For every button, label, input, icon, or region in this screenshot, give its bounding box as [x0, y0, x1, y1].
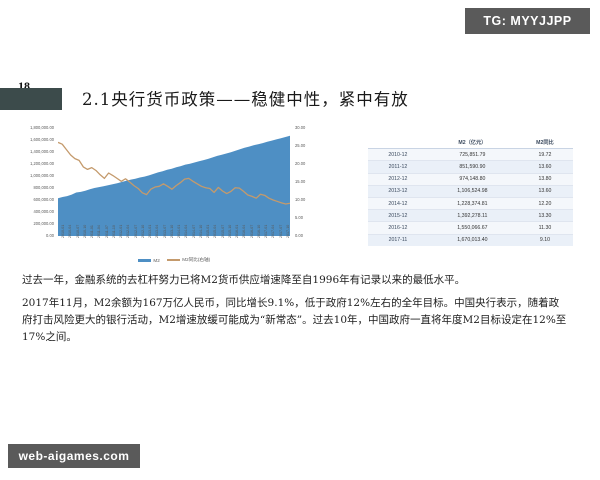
y-tick-left: 200,000.00 [6, 222, 54, 226]
chart-y-axis-right: 30.0025.0020.0015.0010.005.000.00 [292, 124, 332, 240]
table-row: 2015-121,392,278.1113.30 [368, 210, 573, 222]
table-header-m2: M2（亿元） [428, 136, 517, 149]
x-tick: 2017-07 [279, 225, 283, 238]
x-tick: 2016-10 [257, 225, 261, 238]
m2-data-table: M2（亿元） M2同比 2010-12725,851.7919.722011-1… [368, 136, 573, 246]
table-row: 2012-12974,148.8013.80 [368, 173, 573, 185]
cell-date: 2015-12 [368, 210, 428, 222]
y-tick-left: 1,800,000.00 [6, 126, 54, 130]
x-tick: 2015-01 [206, 225, 210, 238]
cell-m2-yoy: 11.30 [517, 222, 573, 234]
table-header-m2-yoy: M2同比 [517, 136, 573, 149]
y-tick-left: 1,400,000.00 [6, 150, 54, 154]
cell-m2: 851,590.90 [428, 161, 517, 173]
x-tick: 2012-01 [119, 225, 123, 238]
x-tick: 2013-07 [163, 225, 167, 238]
table-header-date [368, 136, 428, 149]
paragraph-2: 2017年11月，M2余额为167万亿人民币，同比增长9.1%，低于政府12%左… [22, 295, 567, 346]
x-tick: 2014-07 [192, 225, 196, 238]
cell-date: 2014-12 [368, 197, 428, 209]
x-tick: 2013-10 [170, 225, 174, 238]
cell-date: 2016-12 [368, 222, 428, 234]
x-tick: 2014-01 [177, 225, 181, 238]
legend-label-m2-yoy: M2同比(右轴) [182, 257, 210, 263]
cell-m2-yoy: 13.60 [517, 161, 573, 173]
cell-date: 2010-12 [368, 149, 428, 161]
y-tick-left: 400,000.00 [6, 210, 54, 214]
table-row: 2014-121,228,374.8112.20 [368, 197, 573, 209]
x-tick: 2017-01 [264, 225, 268, 238]
page-title: 2.1央行货币政策——稳健中性，紧中有放 [82, 86, 409, 110]
x-tick: 2017-04 [271, 225, 275, 238]
legend-swatch-m2 [138, 259, 151, 262]
x-tick: 2014-04 [184, 225, 188, 238]
cell-date: 2013-12 [368, 185, 428, 197]
legend-item-m2-yoy: M2同比(右轴) [167, 257, 210, 263]
y-tick-left: 1,200,000.00 [6, 162, 54, 166]
y-tick-right: 30.00 [295, 126, 305, 130]
title-accent-bar [0, 88, 62, 110]
table-row: 2011-12851,590.9013.60 [368, 161, 573, 173]
x-tick: 2016-04 [242, 225, 246, 238]
x-tick: 2010-07 [76, 225, 80, 238]
legend-item-m2: M2 [138, 258, 160, 263]
x-tick: 2015-07 [221, 225, 225, 238]
table-header-row: M2（亿元） M2同比 [368, 136, 573, 149]
x-tick: 2011-01 [90, 225, 94, 238]
y-tick-left: 0.00 [6, 234, 54, 238]
table-row: 2016-121,550,066.6711.30 [368, 222, 573, 234]
x-tick: 2015-04 [213, 225, 217, 238]
x-tick: 2012-04 [126, 225, 130, 238]
legend-swatch-m2-yoy [167, 259, 180, 261]
cell-m2-yoy: 9.10 [517, 234, 573, 246]
y-tick-left: 600,000.00 [6, 198, 54, 202]
x-tick: 2012-10 [141, 225, 145, 238]
cell-date: 2017-11 [368, 234, 428, 246]
table-body: 2010-12725,851.7919.722011-12851,590.901… [368, 149, 573, 246]
m2-chart: 1,800,000.001,600,000.001,400,000.001,20… [6, 124, 336, 272]
cell-m2-yoy: 13.60 [517, 185, 573, 197]
x-tick: 2010-04 [68, 225, 72, 238]
site-watermark-badge: web-aigames.com [8, 444, 140, 468]
cell-m2: 1,392,278.11 [428, 210, 517, 222]
chart-plot-area [58, 128, 290, 236]
x-tick: 2011-04 [97, 225, 101, 238]
cell-m2-yoy: 13.30 [517, 210, 573, 222]
cell-m2-yoy: 13.80 [517, 173, 573, 185]
cell-m2: 1,670,013.40 [428, 234, 517, 246]
cell-m2: 725,851.79 [428, 149, 517, 161]
y-tick-right: 20.00 [295, 162, 305, 166]
cell-m2: 1,106,524.98 [428, 185, 517, 197]
y-tick-right: 10.00 [295, 198, 305, 202]
cell-date: 2011-12 [368, 161, 428, 173]
body-text: 过去一年，金融系统的去杠杆努力已将M2货币供应增速降至自1996年有记录以来的最… [22, 272, 567, 352]
x-tick: 2010-01 [61, 225, 65, 238]
chart-legend: M2 M2同比(右轴) [58, 257, 290, 263]
x-tick: 2010-10 [83, 225, 87, 238]
x-tick: 2013-04 [155, 225, 159, 238]
chart-y-axis-left: 1,800,000.001,600,000.001,400,000.001,20… [6, 124, 56, 240]
x-tick: 2012-07 [134, 225, 138, 238]
y-tick-right: 0.00 [295, 234, 303, 238]
y-tick-left: 1,600,000.00 [6, 138, 54, 142]
x-tick: 2014-10 [199, 225, 203, 238]
x-tick: 2011-07 [105, 225, 109, 238]
m2-area-series [58, 136, 290, 236]
table-row: 2010-12725,851.7919.72 [368, 149, 573, 161]
cell-m2: 1,228,374.81 [428, 197, 517, 209]
table-row: 2013-121,106,524.9813.60 [368, 185, 573, 197]
x-tick: 2017-10 [286, 225, 290, 238]
legend-label-m2: M2 [153, 258, 159, 263]
y-tick-left: 1,000,000.00 [6, 174, 54, 178]
telegram-watermark-badge: TG: MYYJJPP [465, 8, 590, 34]
y-tick-right: 15.00 [295, 180, 305, 184]
cell-m2-yoy: 19.72 [517, 149, 573, 161]
table-row: 2017-111,670,013.409.10 [368, 234, 573, 246]
y-tick-right: 25.00 [295, 144, 305, 148]
x-tick: 2016-01 [235, 225, 239, 238]
x-tick: 2015-10 [228, 225, 232, 238]
y-tick-left: 800,000.00 [6, 186, 54, 190]
x-tick: 2016-07 [250, 225, 254, 238]
paragraph-1: 过去一年，金融系统的去杠杆努力已将M2货币供应增速降至自1996年有记录以来的最… [22, 272, 567, 289]
cell-m2: 1,550,066.67 [428, 222, 517, 234]
cell-date: 2012-12 [368, 173, 428, 185]
cell-m2: 974,148.80 [428, 173, 517, 185]
cell-m2-yoy: 12.20 [517, 197, 573, 209]
chart-svg [58, 128, 290, 236]
y-tick-right: 5.00 [295, 216, 303, 220]
x-tick: 2011-10 [112, 225, 116, 238]
x-tick: 2013-01 [148, 225, 152, 238]
